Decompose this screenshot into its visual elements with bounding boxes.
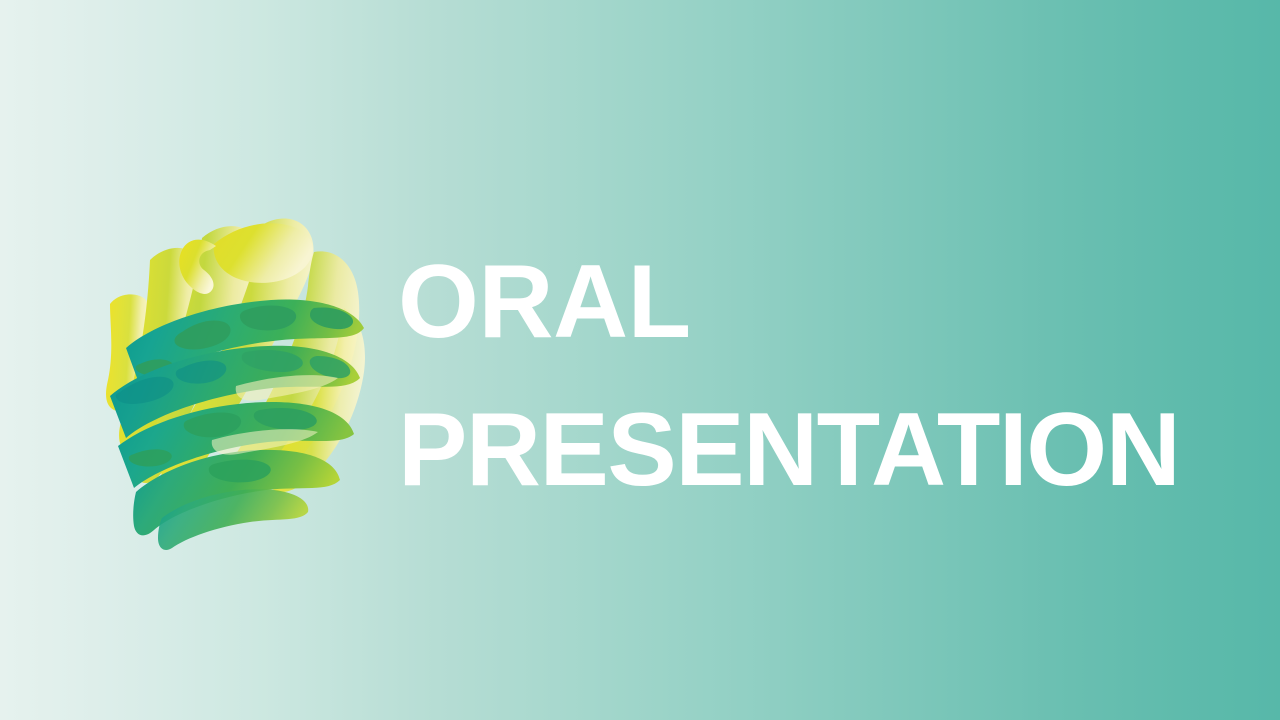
presentation-slide: ORAL PRESENTATION — [0, 0, 1280, 720]
slide-title-line-one: ORAL — [398, 228, 1218, 376]
slide-title-block: ORAL PRESENTATION — [398, 228, 1218, 524]
globe-ribbon-logo-svg — [96, 200, 384, 520]
globe-ribbon-logo — [96, 200, 384, 520]
slide-title-line-two: PRESENTATION — [398, 376, 1218, 524]
